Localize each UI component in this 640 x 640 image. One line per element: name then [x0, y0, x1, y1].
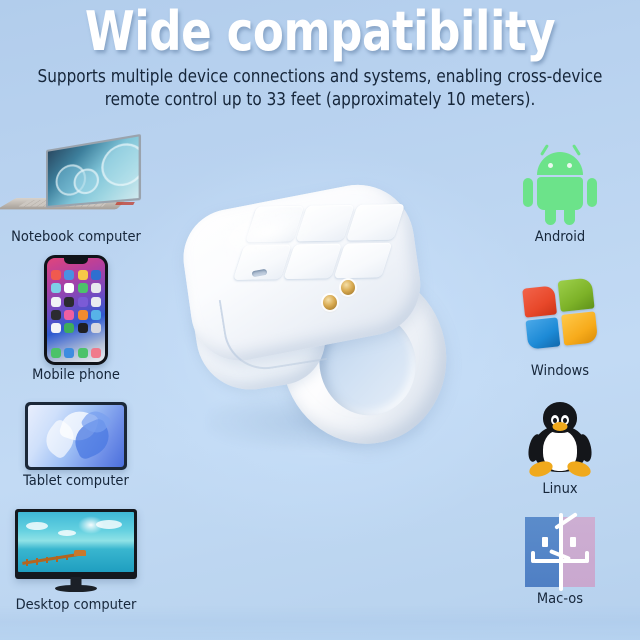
windows-pane-yellow: [561, 311, 598, 345]
laptop-icon: [0, 148, 152, 228]
product-button[interactable]: [283, 243, 342, 279]
android-leg: [545, 208, 556, 225]
windows-logo-icon: [484, 266, 636, 362]
finder-smile-line: [533, 559, 587, 563]
header: Wide compatibility Supports multiple dev…: [0, 0, 640, 112]
os-item-linux: Linux: [484, 400, 636, 500]
monitor-stand-base: [55, 585, 97, 592]
phone-dock: [51, 348, 101, 358]
tux-beak: [553, 422, 568, 431]
device-label-tablet: Tablet computer: [0, 472, 152, 490]
windows-pane-blue: [526, 317, 561, 349]
finder-smile-curve-right: [585, 551, 589, 563]
android-body: [537, 177, 583, 210]
product-charging-contact: [323, 295, 337, 310]
finder-eye-right: [570, 537, 576, 547]
device-label-desktop: Desktop computer: [0, 596, 152, 614]
macos-finder-logo-icon: [484, 514, 636, 590]
monitor-icon: [0, 506, 152, 596]
os-item-android: Android: [484, 148, 636, 248]
os-item-windows: Windows: [484, 266, 636, 398]
monitor-wallpaper-pier: [22, 550, 88, 566]
os-label-android: Android: [484, 228, 636, 246]
android-head: [537, 152, 583, 175]
os-item-macos: Mac-os: [484, 514, 636, 614]
phone-notch: [64, 258, 88, 264]
smartphone-icon: [0, 254, 152, 366]
android-logo-icon: [484, 148, 636, 228]
product-image: [186, 196, 454, 466]
android-eye: [548, 163, 553, 168]
android-arm: [523, 178, 533, 207]
monitor-wallpaper-cloud: [26, 522, 48, 530]
page-subtitle: Supports multiple device connections and…: [10, 66, 631, 112]
android-leg: [564, 208, 575, 225]
os-label-macos: Mac-os: [484, 590, 636, 608]
page-title: Wide compatibility: [22, 2, 617, 62]
tablet-screen: [28, 405, 124, 467]
os-label-windows: Windows: [484, 362, 636, 380]
device-column-left: Notebook computer: [0, 148, 152, 618]
os-label-linux: Linux: [484, 480, 636, 498]
device-item-desktop: Desktop computer: [0, 506, 152, 618]
windows-pane-red: [522, 285, 557, 317]
tablet-icon: [0, 400, 152, 472]
device-item-notebook: Notebook computer: [0, 148, 152, 248]
phone-app-grid: [51, 270, 101, 333]
finder-eye-left: [542, 537, 548, 547]
marketing-banner: Wide compatibility Supports multiple dev…: [0, 0, 640, 640]
device-label-notebook: Notebook computer: [0, 228, 152, 246]
device-item-tablet: Tablet computer: [0, 400, 152, 496]
android-arm: [587, 178, 597, 207]
device-item-phone: Mobile phone: [0, 254, 152, 398]
monitor-wallpaper-cloud: [58, 530, 76, 536]
android-antenna: [572, 144, 581, 156]
monitor-screen: [18, 512, 134, 572]
os-column-right: Android Windows: [484, 148, 636, 614]
laptop-screen: [46, 134, 141, 208]
product-charging-contact: [341, 280, 355, 295]
finder-smile-curve-left: [531, 551, 535, 563]
laptop-accent: [115, 202, 135, 205]
monitor-wallpaper-cloud: [96, 520, 122, 529]
linux-tux-logo-icon: [484, 400, 636, 480]
android-eye: [567, 163, 572, 168]
tux-head: [543, 402, 577, 433]
windows-pane-green: [558, 278, 595, 312]
tux-foot: [565, 459, 592, 480]
laptop-wallpaper-shape: [101, 140, 141, 188]
device-label-phone: Mobile phone: [0, 366, 152, 384]
